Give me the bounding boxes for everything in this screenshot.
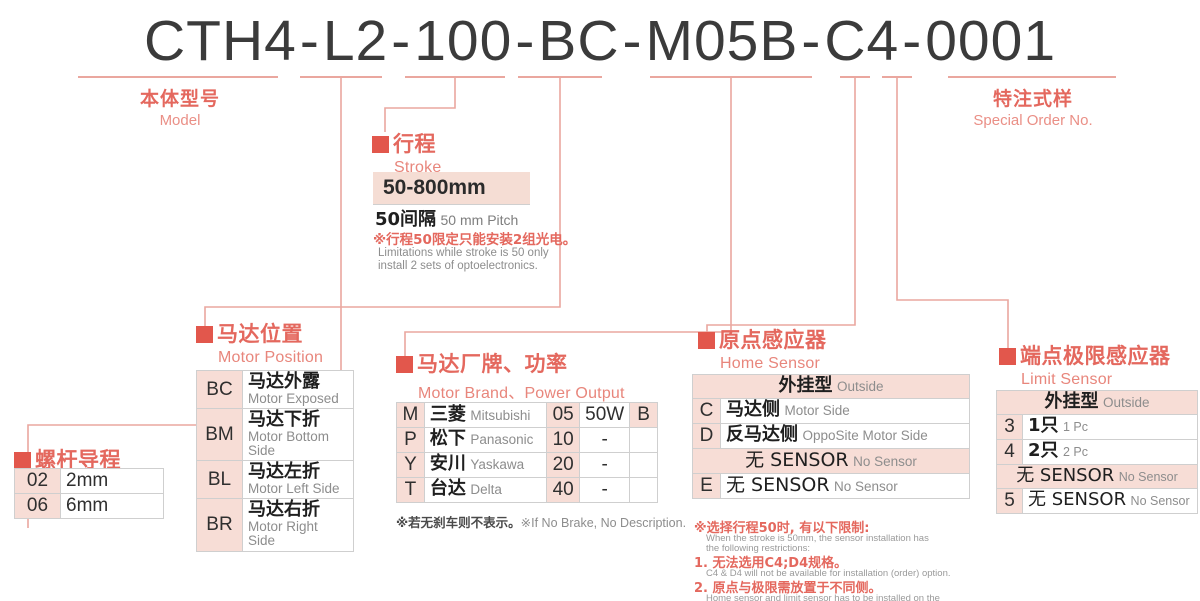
cell-description: 马达侧 Motor Side — [721, 398, 970, 423]
table-motor-brand: M 三菱 Mitsubishi 05 50W B P 松下 Panasonic … — [396, 402, 658, 503]
table-band-row: 外挂型 Outside — [693, 375, 970, 399]
cell-description-cn: 马达下折 — [248, 411, 348, 430]
table-row: 06 6mm — [15, 493, 164, 518]
table-home-sensor: 外挂型 Outside C 马达侧 Motor Side D 反马达侧 Oppo… — [692, 374, 970, 499]
cell-code: 5 — [997, 488, 1023, 513]
cell-description: 马达下折 Motor Bottom Side — [243, 409, 354, 461]
cell-power: - — [580, 452, 630, 477]
band-outside-en: Outside — [1103, 395, 1150, 410]
table-row: BC 马达外露 Motor Exposed — [197, 371, 354, 409]
heading-home-sensor-en: Home Sensor — [720, 355, 827, 373]
table-limit-sensor: 外挂型 Outside 3 1只 1 Pc 4 2只 2 Pc 无 SENSOR… — [996, 390, 1198, 514]
band-no-sensor-cn: 无 SENSOR — [1016, 465, 1114, 486]
cell-brand-code: T — [397, 477, 425, 502]
table-row: C 马达侧 Motor Side — [693, 398, 970, 423]
label-model-en: Model — [100, 112, 260, 129]
home-sensor-warning-item2-en-1: Home sensor and limit sensor has to be i… — [706, 593, 940, 601]
heading-limit-sensor-cn: 端点极限感应器 — [1020, 340, 1171, 370]
cell-brand-cn: 安川 — [430, 453, 466, 474]
cell-brand-cn: 三菱 — [430, 404, 466, 425]
cell-description-en: Motor Exposed — [248, 392, 348, 406]
cell-description-en: 2 Pc — [1063, 445, 1088, 459]
cell-description-cn: 2只 — [1028, 440, 1059, 461]
cell-power-code: 40 — [547, 477, 580, 502]
bullet-square-icon — [396, 356, 413, 373]
table-row: D 反马达侧 OppoSite Motor Side — [693, 423, 970, 448]
bullet-square-icon — [14, 452, 31, 469]
heading-stroke: 行程 Stroke — [372, 128, 441, 177]
cell-description-cn: 1只 — [1028, 415, 1059, 436]
cell-brand-en: Delta — [470, 482, 502, 497]
cell-brand: 台达 Delta — [424, 477, 546, 502]
cell-code: BM — [197, 409, 243, 461]
heading-motor-position-cn: 马达位置 — [217, 318, 303, 348]
cell-code: BL — [197, 461, 243, 499]
stroke-pitch-en: 50 mm Pitch — [441, 212, 519, 228]
cell-brand-code: M — [397, 403, 425, 428]
band-outside: 外挂型 Outside — [997, 391, 1198, 415]
cell-description-cn: 无 SENSOR — [1028, 489, 1126, 510]
table-band-row: 外挂型 Outside — [997, 391, 1198, 415]
heading-limit-sensor-en: Limit Sensor — [1021, 371, 1171, 389]
cell-description: 无 SENSOR No Sensor — [721, 473, 970, 498]
table-row: T 台达 Delta 40 - — [397, 477, 658, 502]
cell-code: 3 — [997, 414, 1023, 439]
table-row: 02 2mm — [15, 469, 164, 494]
cell-brake-code — [630, 427, 658, 452]
band-no-sensor-en: No Sensor — [1119, 470, 1178, 484]
cell-brand-en: Yaskawa — [470, 457, 524, 472]
heading-limit-sensor: 端点极限感应器 Limit Sensor — [999, 340, 1171, 389]
stroke-pitch-cn: 50间隔 — [375, 209, 436, 230]
motor-brand-footnote-cn: ※若无刹车则不表示。 — [396, 515, 521, 530]
heading-motor-brand-en: Motor Brand、Power Output — [418, 379, 625, 403]
cell-brand-code: Y — [397, 452, 425, 477]
cell-description: 马达右折 Motor Right Side — [243, 499, 354, 551]
cell-brand: 三菱 Mitsubishi — [424, 403, 546, 428]
cell-description: 1只 1 Pc — [1023, 414, 1198, 439]
cell-description-en: No Sensor — [1131, 494, 1190, 508]
cell-description-cn: 马达右折 — [248, 501, 348, 520]
label-special-order-cn: 特注式样 — [948, 84, 1118, 111]
stroke-range-band: 50-800mm — [373, 172, 530, 205]
band-outside-en: Outside — [837, 379, 884, 394]
cell-brand-cn: 台达 — [430, 478, 466, 499]
cell-power: - — [580, 427, 630, 452]
cell-description-cn: 马达侧 — [726, 399, 780, 420]
cell-code: 06 — [15, 493, 61, 518]
cell-code: BC — [197, 371, 243, 409]
bullet-square-icon — [999, 348, 1016, 365]
cell-brand-en: Mitsubishi — [470, 408, 530, 423]
table-row: BR 马达右折 Motor Right Side — [197, 499, 354, 551]
cell-description: 马达左折 Motor Left Side — [243, 461, 354, 499]
table-row: E 无 SENSOR No Sensor — [693, 473, 970, 498]
heading-motor-brand-cn: 马达厂牌、功率 — [417, 348, 568, 378]
table-motor-position: BC 马达外露 Motor Exposed BM 马达下折 Motor Bott… — [196, 370, 354, 552]
cell-brand-code: P — [397, 427, 425, 452]
cell-description: 马达外露 Motor Exposed — [243, 371, 354, 409]
cell-power-code: 05 — [547, 403, 580, 428]
table-row: BM 马达下折 Motor Bottom Side — [197, 409, 354, 461]
band-outside-cn: 外挂型 — [779, 375, 833, 396]
cell-brake-code: B — [630, 403, 658, 428]
cell-description-en: Motor Bottom Side — [248, 430, 348, 458]
cell-code: BR — [197, 499, 243, 551]
band-no-sensor-cn: 无 SENSOR — [745, 449, 849, 471]
motor-brand-footnote: ※若无刹车则不表示。※If No Brake, No Description. — [396, 512, 686, 531]
stroke-note-en-2: install 2 sets of optoelectronics. — [378, 259, 538, 275]
table-band-row: 无 SENSOR No Sensor — [693, 448, 970, 473]
model-code-breakdown-diagram: CTH4-L2-100-BC-M05B-C4-0001 — [0, 0, 1200, 601]
cell-description-en: Motor Right Side — [248, 520, 348, 548]
band-no-sensor-en: No Sensor — [853, 454, 917, 469]
band-no-sensor: 无 SENSOR No Sensor — [997, 464, 1198, 488]
table-row: 3 1只 1 Pc — [997, 414, 1198, 439]
table-band-row: 无 SENSOR No Sensor — [997, 464, 1198, 488]
table-row: BL 马达左折 Motor Left Side — [197, 461, 354, 499]
cell-power: - — [580, 477, 630, 502]
cell-brand-cn: 松下 — [430, 428, 466, 449]
bullet-square-icon — [372, 136, 389, 153]
cell-power: 50W — [580, 403, 630, 428]
cell-description-cn: 无 SENSOR — [726, 474, 830, 496]
band-outside: 外挂型 Outside — [693, 375, 970, 399]
table-row: M 三菱 Mitsubishi 05 50W B — [397, 403, 658, 428]
heading-motor-position-en: Motor Position — [218, 349, 323, 367]
cell-power-code: 10 — [547, 427, 580, 452]
cell-description-cn: 马达左折 — [248, 463, 348, 482]
cell-brake-code — [630, 477, 658, 502]
label-special-order: 特注式样 Special Order No. — [948, 84, 1118, 129]
heading-home-sensor-cn: 原点感应器 — [719, 324, 827, 354]
table-row: 5 无 SENSOR No Sensor — [997, 488, 1198, 513]
cell-code: E — [693, 473, 721, 498]
motor-brand-footnote-en: ※If No Brake, No Description. — [521, 516, 686, 530]
cell-description-cn: 反马达侧 — [726, 424, 798, 445]
cell-description-cn: 马达外露 — [248, 373, 348, 392]
table-ball-screw-lead: 02 2mm 06 6mm — [14, 468, 164, 519]
table-row: 4 2只 2 Pc — [997, 439, 1198, 464]
cell-brand: 松下 Panasonic — [424, 427, 546, 452]
label-model-cn: 本体型号 — [100, 84, 260, 111]
cell-value: 6mm — [61, 493, 164, 518]
cell-code: 02 — [15, 469, 61, 494]
label-model: 本体型号 Model — [100, 84, 260, 129]
bullet-square-icon — [698, 332, 715, 349]
band-no-sensor: 无 SENSOR No Sensor — [693, 448, 970, 473]
cell-description-en: OppoSite Motor Side — [802, 428, 927, 443]
bullet-square-icon — [196, 326, 213, 343]
heading-stroke-cn: 行程 — [393, 128, 436, 158]
heading-motor-brand: 马达厂牌、功率 Motor Brand、Power Output — [396, 348, 625, 403]
label-special-order-en: Special Order No. — [948, 112, 1118, 129]
cell-description-en: Motor Left Side — [248, 482, 348, 496]
table-row: Y 安川 Yaskawa 20 - — [397, 452, 658, 477]
heading-home-sensor: 原点感应器 Home Sensor — [698, 324, 827, 373]
heading-motor-position: 马达位置 Motor Position — [196, 318, 323, 367]
cell-brand-en: Panasonic — [470, 432, 533, 447]
cell-brake-code — [630, 452, 658, 477]
table-row: P 松下 Panasonic 10 - — [397, 427, 658, 452]
cell-description: 无 SENSOR No Sensor — [1023, 488, 1198, 513]
cell-description-en: Motor Side — [784, 403, 849, 418]
cell-description: 2只 2 Pc — [1023, 439, 1198, 464]
cell-value: 2mm — [61, 469, 164, 494]
stroke-note-cn: ※行程50限定只能安装2组光电。 — [373, 228, 576, 248]
cell-description-en: No Sensor — [834, 479, 898, 494]
cell-description-en: 1 Pc — [1063, 420, 1088, 434]
cell-code: C — [693, 398, 721, 423]
cell-description: 反马达侧 OppoSite Motor Side — [721, 423, 970, 448]
cell-power-code: 20 — [547, 452, 580, 477]
cell-brand: 安川 Yaskawa — [424, 452, 546, 477]
cell-code: D — [693, 423, 721, 448]
cell-code: 4 — [997, 439, 1023, 464]
band-outside-cn: 外挂型 — [1045, 391, 1099, 412]
